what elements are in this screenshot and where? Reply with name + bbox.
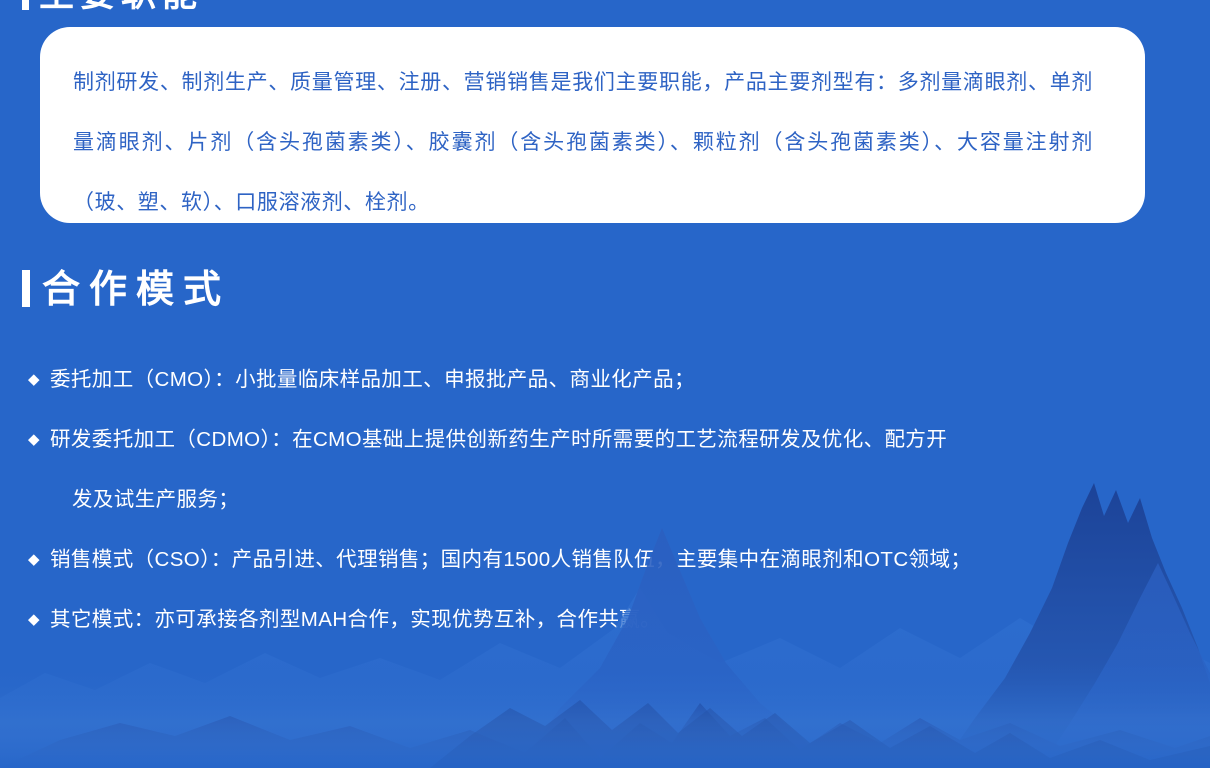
heading-accent-bar	[22, 0, 29, 10]
diamond-bullet-icon: ◆	[28, 410, 40, 470]
diamond-bullet-icon: ◆	[28, 590, 40, 650]
list-item-text: 委托加工（CMO）：小批量临床样品加工、申报批产品、商业化产品；	[50, 368, 695, 391]
section-heading-label: 合作模式	[42, 269, 230, 311]
list-item: ◆ 其它模式：亦可承接各剂型MAH合作，实现优势互补，合作共赢。	[28, 590, 1168, 650]
intro-card: 制剂研发、制剂生产、质量管理、注册、营销销售是我们主要职能，产品主要剂型有：多剂…	[40, 27, 1145, 223]
intro-paragraph: 制剂研发、制剂生产、质量管理、注册、营销销售是我们主要职能，产品主要剂型有：多剂…	[73, 53, 1093, 233]
list-item-continuation: 发及试生产服务；	[50, 470, 1168, 530]
list-item: ◆ 委托加工（CMO）：小批量临床样品加工、申报批产品、商业化产品；	[28, 350, 1168, 410]
top-clipped-heading: 主要职能	[22, 0, 203, 10]
list-item-text: 销售模式（CSO）：产品引进、代理销售；国内有1500人销售队伍，主要集中在滴眼…	[50, 548, 971, 571]
cooperation-mode-list: ◆ 委托加工（CMO）：小批量临床样品加工、申报批产品、商业化产品； ◆ 研发委…	[28, 350, 1168, 650]
list-item-text: 其它模式：亦可承接各剂型MAH合作，实现优势互补，合作共赢。	[50, 608, 661, 631]
list-item: ◆ 销售模式（CSO）：产品引进、代理销售；国内有1500人销售队伍，主要集中在…	[28, 530, 1168, 590]
section-heading: 合作模式	[22, 258, 230, 313]
top-heading-label: 主要职能	[39, 0, 203, 10]
section-heading-accent-bar	[22, 270, 30, 307]
list-item: ◆ 研发委托加工（CDMO）：在CMO基础上提供创新药生产时所需要的工艺流程研发…	[28, 410, 1168, 530]
diamond-bullet-icon: ◆	[28, 350, 40, 410]
list-item-text: 研发委托加工（CDMO）：在CMO基础上提供创新药生产时所需要的工艺流程研发及优…	[50, 410, 1168, 470]
page-root: 主要职能 制剂研发、制剂生产、质量管理、注册、营销销售是我们主要职能，产品主要剂…	[0, 0, 1210, 768]
diamond-bullet-icon: ◆	[28, 530, 40, 590]
